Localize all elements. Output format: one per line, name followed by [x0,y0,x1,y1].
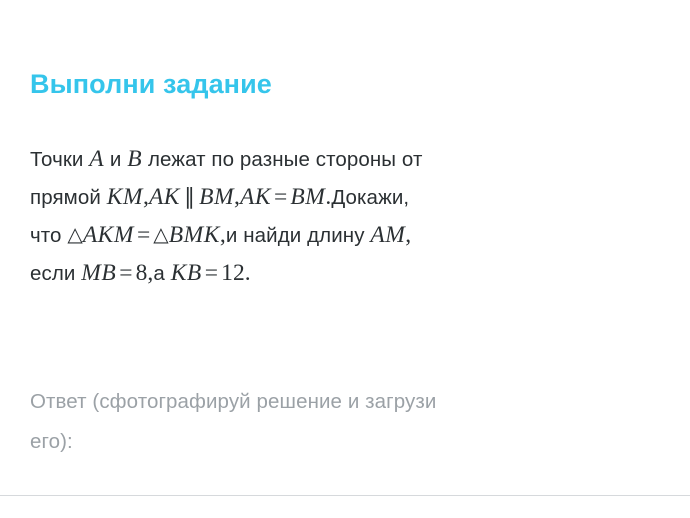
footer-area [0,496,690,518]
statement-text: что [30,224,67,247]
task-page: Выполни задание Точки A и B лежат по раз… [0,0,690,518]
statement-text: прямой [30,186,107,209]
math-triangle-bmk: BMK [169,222,220,248]
math-segment-ak-2: AK [240,184,271,210]
math-comma: , [405,222,411,248]
statement-text: и [104,148,127,171]
math-value-mb: 8 [136,260,148,286]
statement-line-2: прямой KM,AK∥BM,AK=BM.Докажи, [30,178,670,216]
statement-text: лежат по разные стороны от [142,148,422,171]
task-card: Выполни задание Точки A и B лежат по раз… [0,0,690,495]
math-segment-mb: MB [81,260,116,286]
math-period: . [245,260,251,286]
triangle-symbol-icon: △ [67,222,82,246]
math-point-b: B [127,146,142,172]
math-segment-kb: KB [171,260,202,286]
math-segment-bm: BM [199,184,234,210]
answer-prompt-line-1: Ответ (сфотографируй решение и загрузи [30,382,675,422]
statement-text: если [30,262,81,285]
math-triangle-akm: AKM [83,222,134,248]
answer-prompt: Ответ (сфотографируй решение и загрузи е… [30,382,675,462]
equals-symbol-icon: = [202,260,221,286]
math-point-a: A [89,146,104,172]
math-segment-am: AM [370,222,405,248]
statement-line-3: что △AKM=△BMK,и найди длину AM, [30,216,670,254]
statement-line-4: если MB=8,а KB=12. [30,254,670,292]
math-value-kb: 12 [221,260,245,286]
equals-symbol-icon: = [116,260,135,286]
equals-symbol-icon: = [271,184,290,210]
statement-text: Докажи, [331,186,409,209]
statement-text: а [153,262,170,285]
math-segment-km: KM [107,184,143,210]
page-title: Выполни задание [30,68,272,100]
statement-text: Точки [30,148,89,171]
statement-text: и найди длину [226,224,370,247]
statement-line-1: Точки A и B лежат по разные стороны от [30,140,670,178]
math-segment-bm-2: BM [290,184,325,210]
answer-prompt-line-2: его): [30,422,675,462]
triangle-symbol-icon: △ [153,222,168,246]
task-statement: Точки A и B лежат по разные стороны от п… [30,140,670,292]
equals-symbol-icon: = [134,222,153,248]
math-segment-ak: AK [149,184,180,210]
parallel-symbol-icon: ∥ [180,185,199,210]
